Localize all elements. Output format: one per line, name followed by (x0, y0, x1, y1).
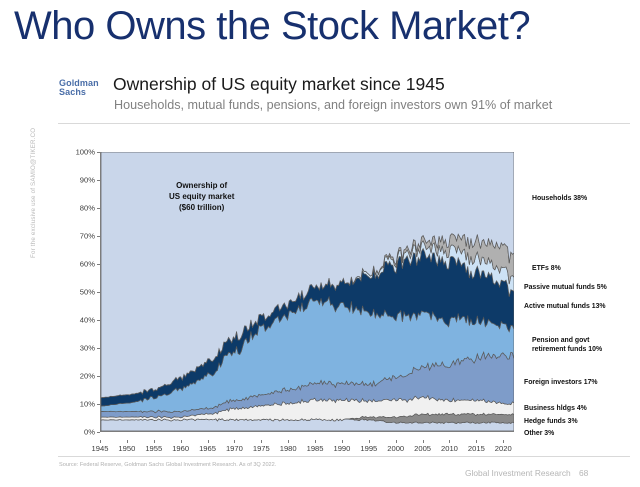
y-axis-tick-label: 60% (80, 260, 95, 269)
x-axis-tick-label: 2020 (495, 444, 512, 453)
slide-container: Goldman Sachs Ownership of US equity mar… (55, 68, 633, 483)
x-axis-tick-label: 1945 (92, 444, 109, 453)
series-label: Other 3% (524, 429, 554, 438)
x-axis-tick-mark (396, 440, 397, 443)
x-axis-tick-mark (315, 440, 316, 443)
series-label: Foreign investors 17% (524, 378, 598, 387)
x-axis-tick-label: 2010 (441, 444, 458, 453)
x-axis-tick-label: 2000 (387, 444, 404, 453)
y-axis-tick-mark (97, 348, 100, 349)
x-axis-tick-mark (261, 440, 262, 443)
series-label: ETFs 8% (532, 264, 561, 273)
logo-line-2: Sachs (59, 88, 105, 97)
y-axis-tick-label: 30% (80, 344, 95, 353)
series-label-line: retirement funds 10% (532, 345, 602, 354)
x-axis-tick-mark (449, 440, 450, 443)
y-axis-tick-label: 0% (84, 428, 95, 437)
x-axis-tick-mark (342, 440, 343, 443)
x-axis-tick-mark (181, 440, 182, 443)
y-axis-tick-label: 70% (80, 232, 95, 241)
y-axis-tick-mark (97, 320, 100, 321)
series-label: Pension and govtretirement funds 10% (532, 336, 602, 354)
y-axis-tick-mark (97, 376, 100, 377)
y-axis-tick-label: 40% (80, 316, 95, 325)
y-axis-tick-mark (97, 180, 100, 181)
divider-top (58, 123, 630, 124)
x-axis-tick-label: 1980 (280, 444, 297, 453)
footer-label: Global Investment Research (465, 468, 571, 478)
y-axis-tick-label: 90% (80, 176, 95, 185)
x-axis-tick-label: 1990 (333, 444, 350, 453)
y-axis-tick-label: 80% (80, 204, 95, 213)
x-axis-tick-mark (503, 440, 504, 443)
y-axis-tick-label: 10% (80, 400, 95, 409)
x-axis-tick-label: 1975 (253, 444, 270, 453)
plot-area: Ownership of US equity market ($60 trill… (100, 152, 514, 432)
goldman-sachs-logo: Goldman Sachs (59, 79, 105, 97)
page-title: Who Owns the Stock Market? (14, 4, 530, 49)
slide-title: Ownership of US equity market since 1945 (113, 74, 445, 95)
watermark-text: For the exclusive use of SAMIO@TIKER.CO (30, 78, 37, 258)
y-axis-tick-label: 100% (76, 148, 95, 157)
x-axis-tick-mark (208, 440, 209, 443)
source-note: Source: Federal Reserve, Goldman Sachs G… (59, 462, 276, 468)
x-axis-tick-mark (369, 440, 370, 443)
annotation-line-3: ($60 trillion) (169, 202, 234, 213)
annotation-line-1: Ownership of (169, 180, 234, 191)
x-axis-tick-mark (100, 440, 101, 443)
series-label: Passive mutual funds 5% (524, 283, 607, 292)
y-axis-tick-label: 20% (80, 372, 95, 381)
x-axis-tick-label: 1970 (226, 444, 243, 453)
x-axis-tick-label: 1985 (307, 444, 324, 453)
y-axis-tick-mark (97, 236, 100, 237)
slide-subtitle: Households, mutual funds, pensions, and … (114, 98, 552, 112)
y-axis-tick-mark (97, 264, 100, 265)
stacked-area-chart: Ownership of US equity market ($60 trill… (100, 152, 558, 440)
x-axis-tick-mark (154, 440, 155, 443)
series-label: Active mutual funds 13% (524, 302, 606, 311)
x-axis-tick-label: 1955 (145, 444, 162, 453)
y-axis-tick-label: 50% (80, 288, 95, 297)
x-axis-tick-label: 2005 (414, 444, 431, 453)
y-axis-tick-mark (97, 292, 100, 293)
x-axis-tick-mark (127, 440, 128, 443)
x-axis-tick-label: 2015 (468, 444, 485, 453)
x-axis-tick-label: 1995 (360, 444, 377, 453)
x-axis-tick-mark (288, 440, 289, 443)
divider-bottom (58, 456, 630, 457)
x-axis-tick-label: 1950 (118, 444, 135, 453)
plot-fill (101, 152, 514, 431)
chart-annotation: Ownership of US equity market ($60 trill… (169, 180, 234, 213)
y-axis-tick-mark (97, 404, 100, 405)
x-axis-tick-label: 1965 (199, 444, 216, 453)
x-axis-tick-mark (234, 440, 235, 443)
y-axis-tick-mark (97, 208, 100, 209)
annotation-line-2: US equity market (169, 191, 234, 202)
area-series-group (101, 152, 514, 431)
x-axis-tick-mark (423, 440, 424, 443)
series-label: Business hldgs 4% (524, 404, 587, 413)
y-axis-tick-mark (97, 432, 100, 433)
x-axis-tick-label: 1960 (172, 444, 189, 453)
series-label-line: Pension and govt (532, 336, 602, 345)
series-label: Households 38% (532, 194, 587, 203)
series-label: Hedge funds 3% (524, 417, 578, 426)
page-number: 68 (579, 468, 588, 478)
x-axis-tick-mark (476, 440, 477, 443)
y-axis-tick-mark (97, 152, 100, 153)
